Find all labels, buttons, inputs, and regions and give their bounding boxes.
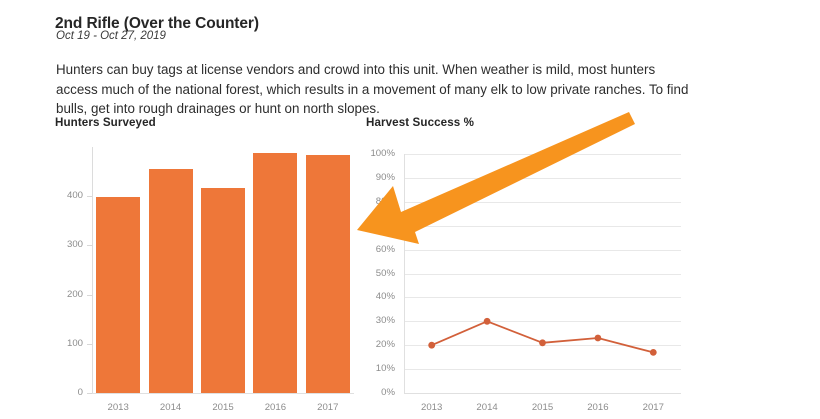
bar-y-tick bbox=[87, 245, 92, 246]
bar-y-tick-label: 200 bbox=[55, 289, 83, 300]
data-point-2015[interactable] bbox=[539, 339, 546, 346]
bar-x-tick-label: 2017 bbox=[302, 402, 354, 413]
bar-2015[interactable] bbox=[201, 188, 245, 393]
bar-2017[interactable] bbox=[306, 155, 350, 393]
line-x-axis-line bbox=[404, 393, 681, 394]
harvest-success-line bbox=[432, 321, 654, 352]
bar-x-tick-label: 2016 bbox=[249, 402, 301, 413]
bar-y-tick-label: 100 bbox=[55, 338, 83, 349]
harvest-success-series bbox=[366, 116, 696, 419]
harvest-success-chart: Harvest Success % 0%10%20%30%40%50%60%70… bbox=[366, 116, 696, 419]
bar-y-tick-label: 400 bbox=[55, 190, 83, 201]
hunters-surveyed-chart: Hunters Surveyed 01002003004002013201420… bbox=[55, 116, 365, 419]
bar-2014[interactable] bbox=[149, 169, 193, 393]
hunters-surveyed-plot-area: 010020030040020132014201520162017 bbox=[55, 116, 365, 419]
bar-y-tick-label: 300 bbox=[55, 239, 83, 250]
bar-x-tick-label: 2015 bbox=[197, 402, 249, 413]
bar-2013[interactable] bbox=[96, 197, 140, 393]
bar-2016[interactable] bbox=[253, 153, 297, 393]
hunt-description: Hunters can buy tags at license vendors … bbox=[56, 60, 694, 119]
hunt-detail-page: 2nd Rifle (Over the Counter) Oct 19 - Oc… bbox=[0, 0, 820, 419]
line-x-tick-label: 2016 bbox=[570, 402, 626, 413]
bar-y-tick bbox=[87, 196, 92, 197]
line-x-tick-label: 2014 bbox=[459, 402, 515, 413]
bar-y-axis-line bbox=[92, 147, 93, 393]
hunt-date-range: Oct 19 - Oct 27, 2019 bbox=[56, 30, 166, 42]
bar-x-tick-label: 2013 bbox=[92, 402, 144, 413]
bar-y-tick-label: 0 bbox=[55, 387, 83, 398]
bar-y-tick bbox=[87, 344, 92, 345]
line-x-tick-label: 2017 bbox=[625, 402, 681, 413]
bar-x-tick-label: 2014 bbox=[145, 402, 197, 413]
data-point-2016[interactable] bbox=[595, 335, 602, 342]
data-point-2014[interactable] bbox=[484, 318, 491, 325]
data-point-2017[interactable] bbox=[650, 349, 657, 356]
bar-y-tick bbox=[87, 295, 92, 296]
bar-x-axis-line bbox=[92, 393, 354, 394]
harvest-success-plot-area: 0%10%20%30%40%50%60%70%80%90%100%2013201… bbox=[366, 116, 696, 419]
data-point-2013[interactable] bbox=[428, 342, 435, 349]
line-x-tick-label: 2013 bbox=[404, 402, 460, 413]
line-x-tick-label: 2015 bbox=[515, 402, 571, 413]
